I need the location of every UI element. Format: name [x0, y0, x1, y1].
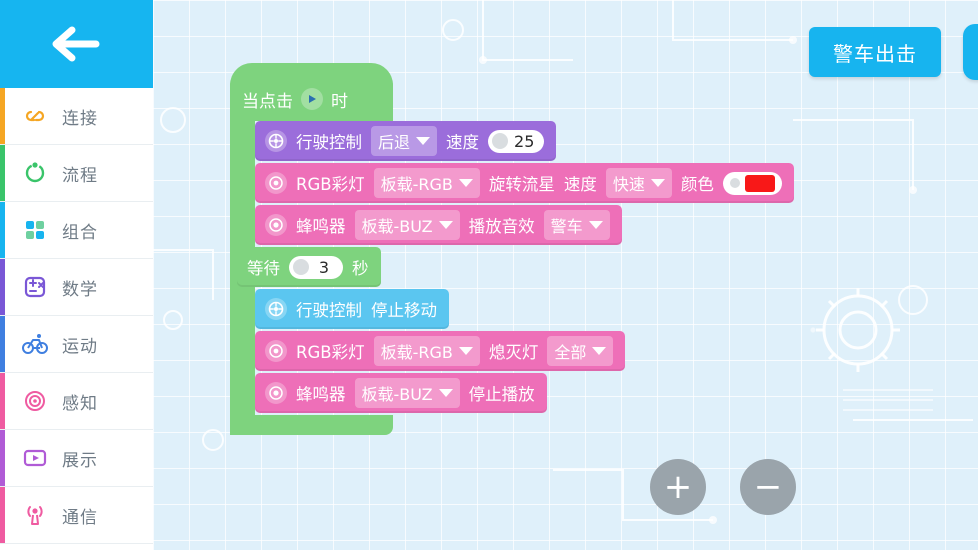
sidebar-item-label: 运动	[62, 332, 98, 357]
sidebar-item-display[interactable]: 展示	[0, 430, 153, 487]
loop-icon	[20, 158, 50, 188]
speed-label: 速度	[564, 171, 597, 195]
sidebar-accent-bar	[0, 316, 5, 372]
color-label: 颜色	[681, 171, 714, 195]
block-drive-stop[interactable]: 行驶控制 停止移动	[255, 289, 449, 329]
chevron-down-icon	[439, 389, 453, 397]
rgb-target-value: 全部	[554, 339, 586, 363]
sidebar-item-label: 数学	[62, 275, 98, 300]
buzzer-icon	[265, 382, 287, 404]
chevron-down-icon	[439, 221, 453, 229]
block-buzzer-stop[interactable]: 蜂鸣器 板载-BUZ 停止播放	[255, 373, 547, 413]
led-icon	[265, 340, 287, 362]
block-label: 蜂鸣器	[296, 381, 346, 405]
slider-knob-icon	[492, 133, 508, 149]
play-icon	[301, 88, 323, 110]
rgb-port-value: 板载-RGB	[381, 339, 453, 363]
chevron-down-icon	[459, 347, 473, 355]
chevron-down-icon	[416, 137, 430, 145]
stop-label: 停止移动	[371, 297, 437, 321]
slider-knob-icon	[293, 259, 309, 275]
buzzer-port-dropdown[interactable]: 板载-BUZ	[355, 210, 460, 240]
buzzer-icon	[265, 214, 287, 236]
sidebar-item-combo[interactable]: 组合	[0, 202, 153, 259]
wait-value: 3	[315, 258, 333, 277]
sidebar-item-math[interactable]: 数学	[0, 259, 153, 316]
hat-text-before: 当点击	[242, 87, 293, 112]
rgb-speed-dropdown[interactable]: 快速	[606, 168, 672, 198]
block-rgb-off[interactable]: RGB彩灯 板载-RGB 熄灭灯 全部	[255, 331, 625, 371]
sidebar-accent-bar	[0, 430, 5, 486]
radar-icon	[20, 386, 50, 416]
sidebar-item-communication[interactable]: 通信	[0, 487, 153, 544]
math-icon	[20, 272, 50, 302]
sidebar-accent-bar	[0, 487, 5, 543]
back-arrow-icon	[50, 24, 104, 64]
sidebar-item-label: 组合	[62, 218, 98, 243]
block-label: RGB彩灯	[296, 171, 365, 195]
direction-dropdown[interactable]: 后退	[371, 126, 437, 156]
sound-label: 播放音效	[469, 213, 535, 237]
speed-input[interactable]: 25	[488, 130, 544, 153]
link-icon	[20, 101, 50, 131]
sidebar-item-label: 感知	[62, 389, 98, 414]
hat-body: 行驶控制 后退 速度 25	[230, 121, 794, 435]
speed-value: 25	[514, 132, 534, 151]
signal-icon	[20, 500, 50, 530]
rgb-port-dropdown[interactable]: 板载-RGB	[374, 168, 480, 198]
buzzer-port-value: 板载-BUZ	[362, 381, 433, 405]
rgb-port-value: 板载-RGB	[381, 171, 453, 195]
sidebar-item-connect[interactable]: 连接	[0, 88, 153, 145]
sidebar-item-motion[interactable]: 运动	[0, 316, 153, 373]
block-buzzer-play[interactable]: 蜂鸣器 板载-BUZ 播放音效 警车	[255, 205, 622, 245]
block-label: 蜂鸣器	[296, 213, 346, 237]
zoom-in-button[interactable]: +	[650, 459, 706, 515]
color-swatch	[745, 175, 775, 192]
chevron-down-icon	[651, 179, 665, 187]
sidebar-item-sensing[interactable]: 感知	[0, 373, 153, 430]
zoom-out-button[interactable]: −	[740, 459, 796, 515]
wheel-icon	[265, 130, 287, 152]
block-stack[interactable]: 行驶控制 后退 速度 25	[255, 121, 794, 413]
rgb-target-dropdown[interactable]: 全部	[547, 336, 613, 366]
event-hat-block[interactable]: 当点击 时	[230, 77, 393, 121]
speed-label: 速度	[446, 129, 479, 153]
sidebar-item-label: 流程	[62, 161, 98, 186]
sidebar-item-flow[interactable]: 流程	[0, 145, 153, 202]
chevron-down-icon	[589, 221, 603, 229]
buzzer-port-value: 板载-BUZ	[362, 213, 433, 237]
sidebar-accent-bar	[0, 202, 5, 258]
block-label: 行驶控制	[296, 297, 362, 321]
sidebar-accent-bar	[0, 259, 5, 315]
sidebar-accent-bar	[0, 145, 5, 201]
off-label: 熄灭灯	[489, 339, 539, 363]
buzzer-port-dropdown[interactable]: 板载-BUZ	[355, 378, 460, 408]
puzzle-icon	[20, 215, 50, 245]
sidebar-item-label: 展示	[62, 446, 98, 471]
sidebar[interactable]: 连接 流程 组合 数学	[0, 0, 153, 550]
wheel-icon	[265, 298, 287, 320]
block-label: 行驶控制	[296, 129, 362, 153]
color-knob-icon	[730, 178, 740, 188]
chevron-down-icon	[592, 347, 606, 355]
wait-input[interactable]: 3	[289, 256, 343, 279]
display-icon	[20, 443, 50, 473]
sidebar-accent-bar	[0, 373, 5, 429]
chevron-down-icon	[459, 179, 473, 187]
workspace-canvas[interactable]: 警车出击 当点击 时	[153, 0, 978, 550]
stop-label: 停止播放	[469, 381, 535, 405]
block-wait[interactable]: 等待 3 秒	[237, 247, 381, 287]
bike-icon	[20, 329, 50, 359]
rgb-speed-value: 快速	[613, 171, 645, 195]
block-script[interactable]: 当点击 时 行驶控制	[230, 77, 794, 435]
sound-value: 警车	[551, 213, 583, 237]
rgb-port-dropdown[interactable]: 板载-RGB	[374, 336, 480, 366]
hat-text-after: 时	[331, 87, 348, 112]
color-picker[interactable]	[723, 172, 782, 195]
led-icon	[265, 172, 287, 194]
save-button[interactable]	[963, 24, 978, 80]
sound-dropdown[interactable]: 警车	[544, 210, 610, 240]
sidebar-accent-bar	[0, 88, 5, 144]
back-button[interactable]	[0, 0, 153, 88]
sidebar-item-label: 通信	[62, 503, 98, 528]
block-label: RGB彩灯	[296, 339, 365, 363]
project-title-chip[interactable]: 警车出击	[809, 27, 941, 77]
block-drive-control[interactable]: 行驶控制 后退 速度 25	[255, 121, 556, 161]
sidebar-item-label: 连接	[62, 104, 98, 129]
wait-unit: 秒	[352, 255, 369, 279]
effect-label: 旋转流星	[489, 171, 555, 195]
block-rgb-led[interactable]: RGB彩灯 板载-RGB 旋转流星 速度 快速 颜色	[255, 163, 794, 203]
wait-label: 等待	[247, 255, 280, 279]
direction-value: 后退	[378, 129, 410, 153]
